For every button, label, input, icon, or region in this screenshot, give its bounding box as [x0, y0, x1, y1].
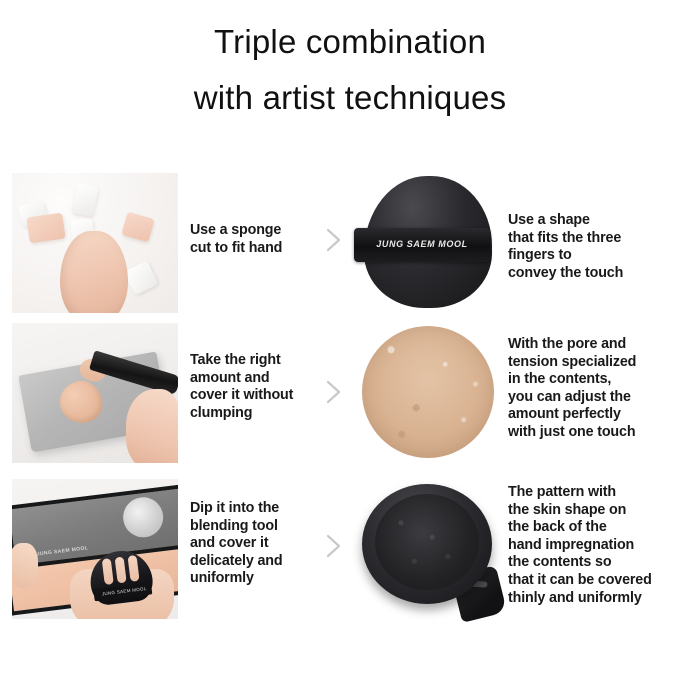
- finger-puff-logo: JUNG SAEM MOOL: [102, 586, 147, 596]
- step-2-left-caption: Take the right amount and cover it witho…: [190, 352, 320, 422]
- hand: [126, 389, 178, 463]
- chevron-right-icon-2: [324, 378, 344, 406]
- compact-scene: JUNG SAEM MOOL JUNG SAEM MOOL: [12, 479, 178, 619]
- step-3-product-disc: [358, 476, 503, 622]
- sponge-scene: [12, 173, 178, 313]
- brand-logo-text: JUNG SAEM MOOL: [354, 239, 490, 249]
- step-1-photo-sponges: [12, 173, 178, 313]
- thumb: [12, 543, 38, 589]
- step-1-right-caption: Use a shape that fits the three fingers …: [508, 212, 698, 282]
- chevron-right-icon-3: [324, 532, 344, 560]
- step-2-photo-spatula: [12, 323, 178, 463]
- beige-cushion-disc: [362, 326, 494, 458]
- step-3-photo-compact: JUNG SAEM MOOL JUNG SAEM MOOL: [12, 479, 178, 619]
- step-3-right-caption: The pattern with the skin shape on the b…: [508, 484, 698, 607]
- black-textured-disc: [362, 484, 492, 604]
- disc-texture: [375, 494, 479, 590]
- step-1-product-puff: JUNG SAEM MOOL: [358, 170, 503, 316]
- step-2-product-cushion: [358, 320, 503, 466]
- page-title-line-2: with artist techniques: [0, 74, 700, 122]
- page-title: Triple combination with artist technique…: [0, 18, 700, 122]
- step-row-3: JUNG SAEM MOOL JUNG SAEM MOOL Dip it int…: [0, 476, 700, 622]
- step-row-2: Take the right amount and cover it witho…: [0, 320, 700, 466]
- puff-band: JUNG SAEM MOOL: [354, 228, 490, 262]
- step-2-right-caption: With the pore and tension specialized in…: [508, 336, 698, 442]
- step-row-1: Use a sponge cut to fit hand JUNG SAEM M…: [0, 170, 700, 316]
- step-3-left-caption: Dip it into the blending tool and cover …: [190, 500, 320, 588]
- spatula-scene: [12, 323, 178, 463]
- chevron-right-icon-1: [324, 226, 344, 254]
- compact-brand-logo: JUNG SAEM MOOL: [37, 545, 89, 557]
- page-title-line-1: Triple combination: [0, 18, 700, 66]
- step-1-left-caption: Use a sponge cut to fit hand: [190, 222, 320, 257]
- finger-puff-band: JUNG SAEM MOOL: [93, 582, 152, 601]
- blending-tool-disc: [121, 495, 166, 540]
- black-disc-wrap: [360, 478, 500, 620]
